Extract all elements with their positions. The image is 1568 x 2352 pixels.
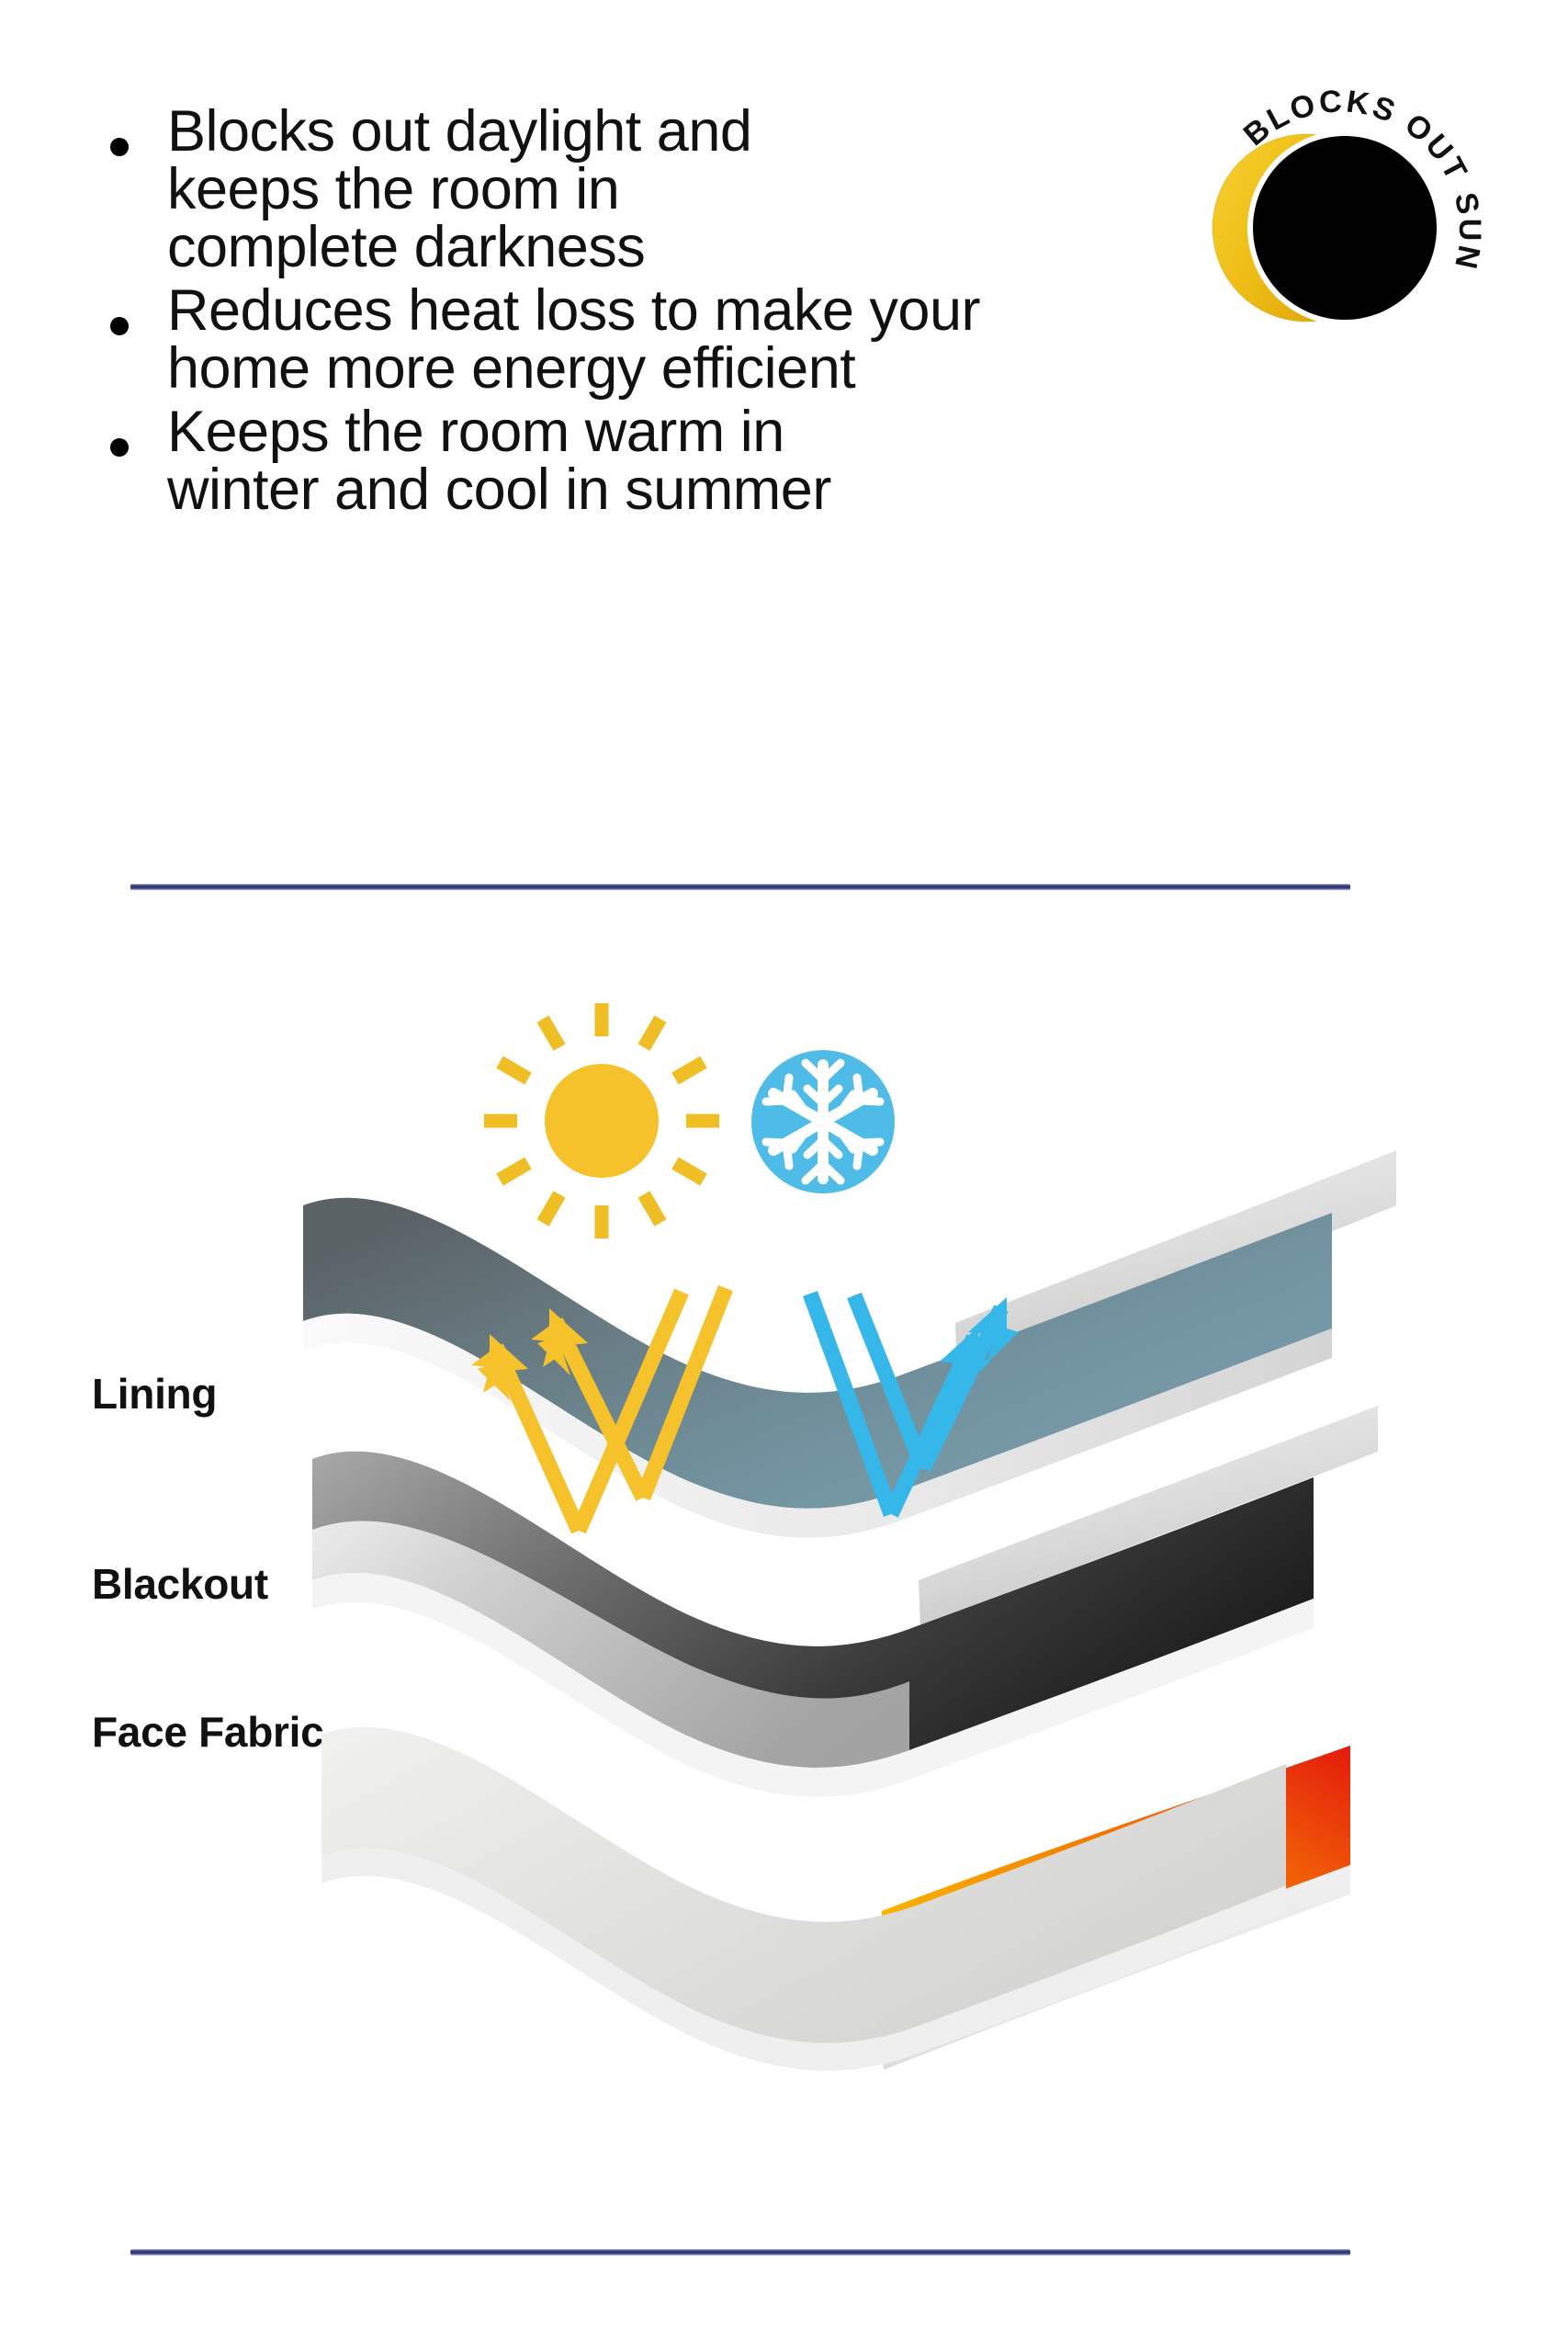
divider-top bbox=[130, 884, 1350, 890]
blocks-out-sun-logo: BLOCKS OUT SUN bbox=[1150, 44, 1517, 412]
bullet-icon bbox=[110, 138, 129, 156]
bullet-icon bbox=[110, 438, 129, 457]
eclipse-disc-icon bbox=[1253, 136, 1437, 320]
fabric-layer-diagram bbox=[0, 937, 1568, 2150]
divider-bottom bbox=[130, 2249, 1350, 2256]
snowflake-icon bbox=[751, 1050, 895, 1193]
bullet-icon bbox=[110, 317, 129, 335]
list-item: Blocks out daylight and keeps the room i… bbox=[110, 103, 1139, 277]
benefit-text: Blocks out daylight and keeps the room i… bbox=[167, 103, 751, 277]
benefits-list: Blocks out daylight and keeps the room i… bbox=[110, 103, 1139, 525]
sun-icon bbox=[484, 1003, 719, 1238]
benefit-text: Keeps the room warm in winter and cool i… bbox=[167, 403, 831, 519]
list-item: Keeps the room warm in winter and cool i… bbox=[110, 403, 1139, 519]
benefit-text: Reduces heat loss to make your home more… bbox=[167, 282, 980, 398]
list-item: Reduces heat loss to make your home more… bbox=[110, 282, 1139, 398]
